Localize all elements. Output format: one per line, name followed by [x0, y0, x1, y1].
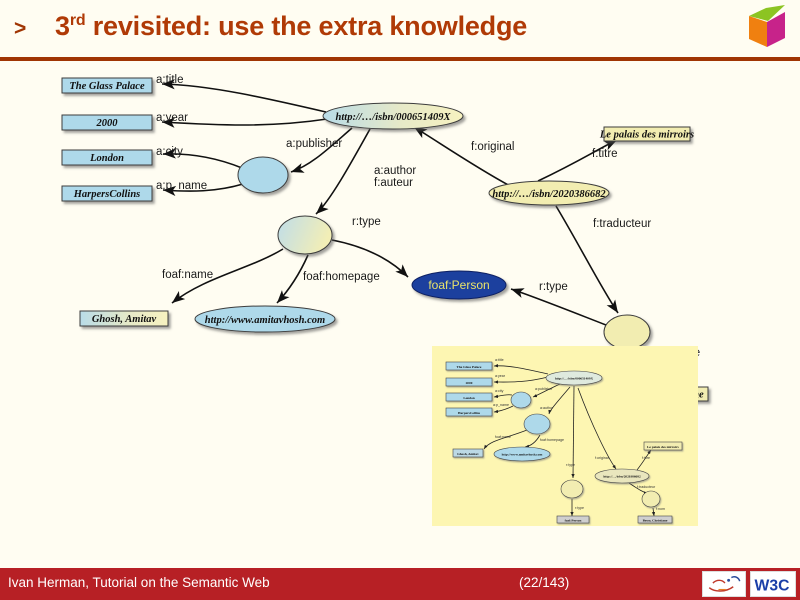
footer-logos: W3C: [702, 570, 796, 598]
thumb-node-ghosh: Ghosh, Amitav: [457, 452, 479, 456]
thumb-label-f-nom: f:nom: [656, 507, 665, 511]
slide-footer: Ivan Herman, Tutorial on the Semantic We…: [0, 568, 800, 600]
thumb-node-palais: Le palais des mirroirs: [647, 445, 679, 449]
node-foaf-person[interactable]: foaf:Person: [412, 271, 506, 299]
node-isbn-english[interactable]: http://…/isbn/000651409X: [323, 103, 463, 129]
edge-f-titre: [538, 140, 617, 181]
node-glass-palace-label: The Glass Palace: [69, 81, 145, 92]
thumbnail-previous-graph[interactable]: a:title a:year a:city a:p_name a:publish…: [432, 346, 698, 526]
page-title: 3rd revisited: use the extra knowledge: [55, 11, 527, 42]
edge-f-original: [414, 127, 512, 187]
svg-text:W3C: W3C: [755, 577, 790, 594]
thumb-node-glass-palace: The Glass Palace: [457, 365, 482, 369]
node-homepage[interactable]: http://www.amitavhosh.com: [195, 306, 335, 332]
node-isbn-english-label: http://…/isbn/000651409X: [336, 112, 452, 123]
node-london-label: London: [89, 153, 124, 164]
node-ghosh-amitav-label: Ghosh, Amitav: [92, 314, 157, 325]
thumb-label-a-pname: a:p_name: [493, 403, 509, 407]
node-london[interactable]: London: [62, 150, 152, 165]
thumb-node-homepage: http://www.amitavhosh.com: [502, 453, 543, 457]
thumb-node-isbn-fr: http://…/isbn/2020386682: [603, 475, 641, 479]
node-isbn-french-label: http://…/isbn/2020386682: [492, 189, 606, 200]
edge-label-f-traducteur: f:traducteur: [593, 218, 651, 230]
thumb-nodes: [446, 362, 682, 523]
node-harperscollins-label: HarpersCollins: [73, 189, 141, 200]
edge-label-foaf-homepage: foaf:homepage: [303, 271, 380, 283]
node-ghosh-amitav[interactable]: Ghosh, Amitav: [80, 311, 168, 326]
thumb-label-f-traducteur: f:traducteur: [637, 485, 656, 489]
page-title-number: 3: [55, 11, 70, 41]
thumb-label-a-year: a:year: [495, 374, 506, 378]
node-foaf-person-label: foaf:Person: [428, 278, 489, 292]
node-author-blank[interactable]: [278, 216, 332, 254]
page-title-rest: revisited: use the extra knowledge: [85, 11, 527, 41]
page-title-ordinal: rd: [70, 12, 86, 29]
edge-a-publisher: [291, 128, 352, 172]
thumb-node-2000: 2000: [466, 381, 473, 385]
thumb-label-r-type-1: r:type: [566, 463, 575, 467]
edge-a-title: [162, 84, 326, 112]
thumb-label-a-author: a:author: [540, 406, 554, 410]
edge-label-foaf-name-1: foaf:name: [162, 269, 213, 281]
thumb-label-f-titre: f:titre: [642, 456, 650, 460]
w3c-logo: W3C: [750, 571, 796, 597]
footer-page-number: (22/143): [519, 575, 569, 590]
node-year-2000[interactable]: 2000: [62, 115, 152, 130]
node-le-palais[interactable]: Le palais des mirroirs: [599, 127, 694, 141]
edge-label-r-type-1: r:type: [352, 216, 381, 228]
edge-label-a-title: a:title: [156, 74, 184, 86]
thumb-node-foaf-person: foaf:Person: [565, 519, 582, 523]
thumb-label-a-title: a:title: [495, 358, 504, 362]
thumb-label-foaf-name: foaf:name: [495, 435, 511, 439]
footer-author: Ivan Herman, Tutorial on the Semantic We…: [8, 575, 270, 590]
node-homepage-label: http://www.amitavhosh.com: [205, 315, 325, 326]
thumb-node-besse: Besse, Christiane: [643, 519, 668, 523]
thumb-node-isbn-en: http://…/isbn/000651409X: [555, 377, 594, 381]
edge-label-a-city: a:city: [156, 146, 183, 158]
edge-label-a-year: a:year: [156, 112, 188, 124]
node-harperscollins[interactable]: HarpersCollins: [62, 186, 152, 201]
thumb-node-harperscollins: HarpersCollins: [458, 411, 481, 415]
thumb-node-london: London: [463, 396, 474, 400]
edge-label-a-author: a:author: [374, 165, 416, 177]
slide-header: > 3rd revisited: use the extra knowledge: [0, 0, 800, 57]
node-le-palais-label: Le palais des mirroirs: [599, 130, 694, 141]
semantic-web-cube-logo: [744, 3, 790, 51]
node-year-2000-label: 2000: [96, 118, 119, 129]
arabic-calligraphy-logo: [702, 571, 746, 597]
edge-r-type-2: [511, 289, 606, 325]
thumb-label-foaf-homepage: foaf:homepage: [540, 438, 564, 442]
node-publisher-blank[interactable]: [238, 157, 288, 193]
bullet-caret: >: [14, 18, 26, 39]
edge-label-a-publisher: a:publisher: [286, 138, 342, 150]
node-isbn-french[interactable]: http://…/isbn/2020386682: [489, 181, 609, 205]
edge-label-a-pname: a:p_name: [156, 180, 207, 192]
thumb-label-r-type-2: r:type: [575, 506, 584, 510]
node-glass-palace[interactable]: The Glass Palace: [62, 78, 152, 93]
edge-label-f-original: f:original: [471, 141, 514, 153]
edge-label-f-auteur: f:auteur: [374, 177, 413, 189]
thumb-label-a-publisher: a:publisher: [535, 387, 553, 391]
thumb-label-a-city: a:city: [495, 389, 504, 393]
edge-label-r-type-2: r:type: [539, 281, 568, 293]
thumb-label-f-original: f:original: [595, 456, 609, 460]
node-translator-blank[interactable]: [604, 315, 650, 349]
edge-label-f-titre: f:titre: [592, 148, 618, 160]
